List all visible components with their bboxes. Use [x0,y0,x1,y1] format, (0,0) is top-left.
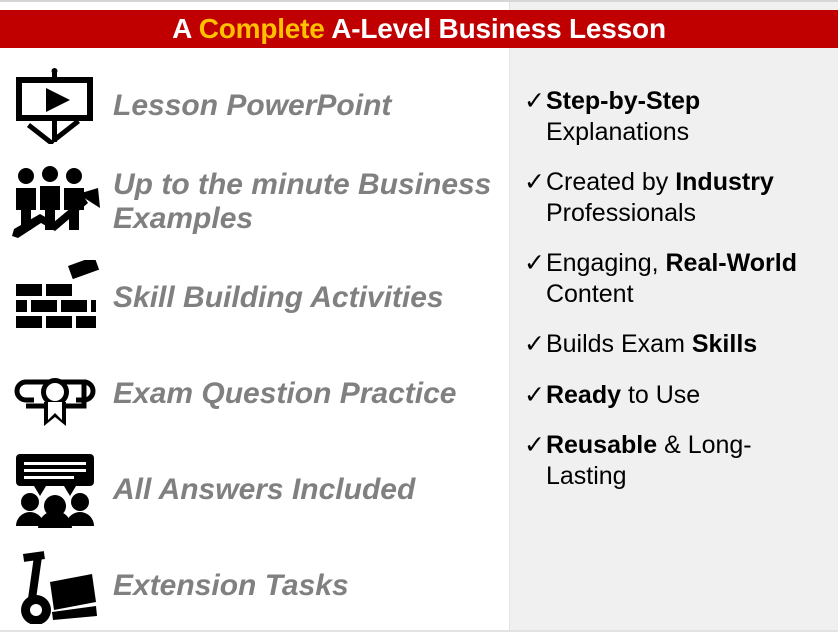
benefit-label-regular: to Use [621,381,700,409]
benefit-list: ✓ Step-by-Step Explanations ✓ Created by… [510,52,838,632]
presentation-screen-icon [8,66,103,146]
check-icon: ✓ [524,167,545,198]
page-title: A Complete A-Level Business Lesson [172,15,666,43]
benefit-item-real-world-content: ✓ Engaging, Real-World Content [524,248,832,309]
benefit-label-bold: Step-by-Step [546,87,700,115]
benefit-label-bold: Reusable [546,431,657,459]
benefit-item-reusable-long-lasting: ✓ Reusable & Long-Lasting [524,430,832,491]
benefit-label-regular: Created by [546,168,675,196]
check-icon: ✓ [524,329,545,360]
benefit-label: Step-by-Step Explanations [546,86,832,147]
header-banner: A Complete A-Level Business Lesson [0,10,838,48]
title-text-after: A-Level Business Lesson [325,13,666,44]
feature-item-all-answers: All Answers Included [0,442,510,538]
feature-item-lesson-powerpoint: Lesson PowerPoint [0,58,510,154]
benefit-label-regular: Builds Exam [546,330,692,358]
title-text-before: A [172,13,199,44]
feature-label: Lesson PowerPoint [103,89,510,123]
feature-item-business-examples: Up to the minute Business Examples [0,154,510,250]
check-icon: ✓ [524,86,545,117]
benefit-label-regular: Engaging, [546,249,666,277]
benefit-label: Reusable & Long-Lasting [546,430,832,491]
diploma-scroll-icon [8,354,103,434]
benefit-label-bold: Ready [546,381,621,409]
benefit-item-builds-exam-skills: ✓ Builds Exam Skills [524,329,832,360]
people-growth-chart-icon [8,162,103,242]
feature-label: All Answers Included [103,473,510,507]
feature-item-extension-tasks: Extension Tasks [0,538,510,632]
slide-canvas: A Complete A-Level Business Lesson [0,0,838,632]
benefit-label-regular: Professionals [546,199,696,227]
benefit-label-regular: Content [546,280,634,308]
speech-bubble-audience-icon [8,450,103,530]
hand-truck-icon [8,546,103,626]
feature-item-skill-building: Skill Building Activities [0,250,510,346]
check-icon: ✓ [524,248,545,279]
benefit-item-industry-professionals: ✓ Created by Industry Professionals [524,167,832,228]
benefit-label-bold: Real-World [666,249,798,277]
title-highlight-word: Complete [199,13,325,44]
benefit-label: Builds Exam Skills [546,329,832,360]
feature-item-exam-practice: Exam Question Practice [0,346,510,442]
benefit-label-bold: Industry [675,168,774,196]
check-icon: ✓ [524,430,545,461]
benefit-label: Engaging, Real-World Content [546,248,832,309]
feature-label: Skill Building Activities [103,281,510,315]
feature-label: Exam Question Practice [103,377,510,411]
benefit-item-step-by-step: ✓ Step-by-Step Explanations [524,86,832,147]
feature-label: Extension Tasks [103,569,510,603]
feature-label: Up to the minute Business Examples [103,168,510,235]
benefit-item-ready-to-use: ✓ Ready to Use [524,380,832,411]
benefit-label-regular: Explanations [546,118,689,146]
check-icon: ✓ [524,380,545,411]
benefit-label: Created by Industry Professionals [546,167,832,228]
feature-list: Lesson PowerPoint Up to the minute Busin… [0,52,510,632]
brick-wall-icon [8,258,103,338]
benefit-label: Ready to Use [546,380,832,411]
benefit-label-bold: Skills [692,330,757,358]
